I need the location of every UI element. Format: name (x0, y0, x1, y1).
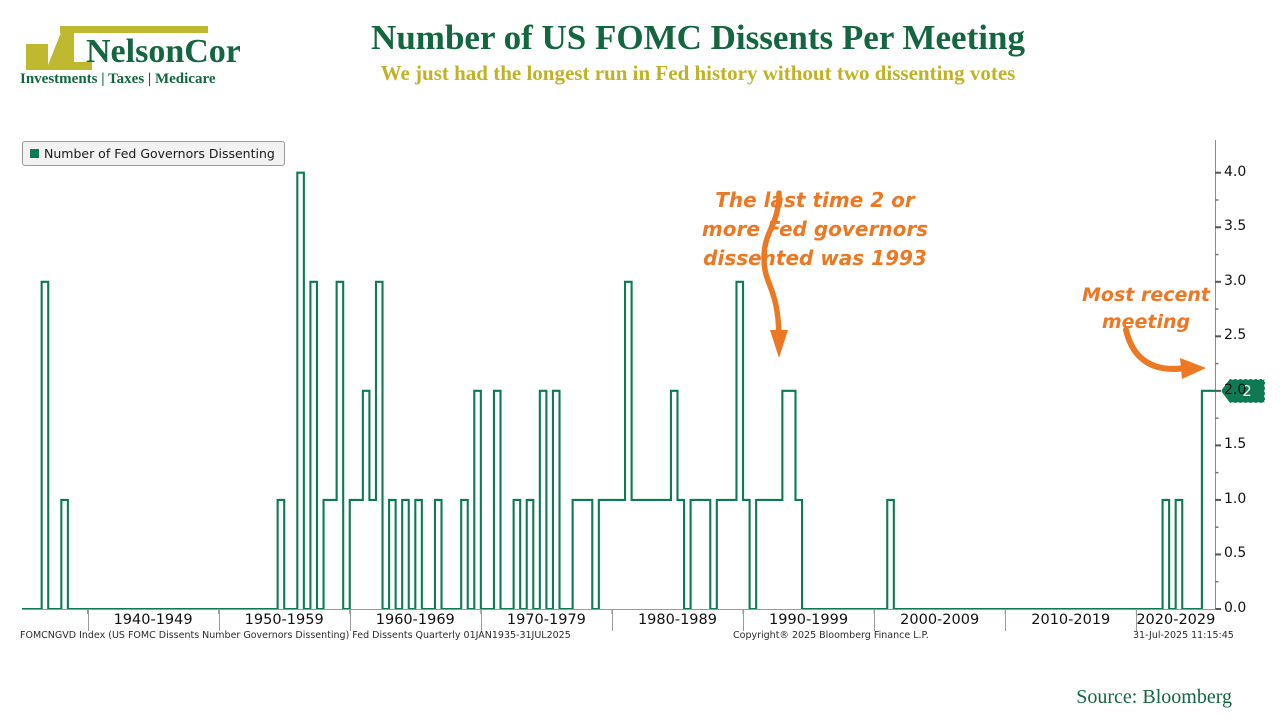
x-axis-tick-label: 1950-1959 (219, 612, 350, 628)
nelsoncorp-logo: NelsonCorp Investments | Taxes | Medicar… (18, 18, 240, 88)
chart-plot-area (0, 118, 1280, 648)
chart-legend[interactable]: Number of Fed Governors Dissenting (22, 141, 285, 166)
x-axis-tick-label: 1960-1969 (350, 612, 481, 628)
source-label: Source: Bloomberg (1076, 686, 1232, 709)
x-axis-tick-label: 2010-2019 (1005, 612, 1136, 628)
annotation-most-recent-meeting: Most recent meeting (1070, 282, 1222, 336)
legend-label: Number of Fed Governors Dissenting (44, 146, 275, 161)
x-axis-tick-label: 1990-1999 (743, 612, 874, 628)
legend-swatch-icon (30, 149, 39, 158)
title-block: Number of US FOMC Dissents Per Meeting W… (258, 16, 1138, 86)
x-axis-rule (22, 609, 1216, 610)
logo-n-mark (26, 30, 92, 70)
annotation-line: dissented was 1993 (700, 244, 930, 273)
page-subtitle: We just had the longest run in Fed histo… (258, 60, 1138, 86)
bloomberg-timestamp-footer: 31-Jul-2025 11:15:45 (1133, 630, 1234, 641)
annotation-line: The last time 2 or (700, 186, 930, 215)
bloomberg-index-footer: FOMCNGVD Index (US FOMC Dissents Number … (20, 630, 571, 641)
logo-tagline-text: Investments | Taxes | Medicare (20, 71, 216, 87)
chart-svg (0, 118, 1280, 648)
x-axis-tick-label: 2000-2009 (874, 612, 1005, 628)
logo-bar (60, 26, 208, 33)
x-axis-tick-label: 1980-1989 (612, 612, 743, 628)
y-axis-tick-label: 3.0 (1224, 273, 1246, 289)
y-axis-tick-label: 1.0 (1224, 491, 1246, 507)
page-title: Number of US FOMC Dissents Per Meeting (258, 16, 1138, 60)
annotation-line: meeting (1070, 309, 1222, 336)
page-header: NelsonCorp Investments | Taxes | Medicar… (0, 0, 1280, 110)
x-axis-tick-label: 2020-2029 (1136, 612, 1208, 628)
y-axis-tick-label: 2.0 (1224, 382, 1246, 398)
dissents-series-line (22, 173, 1215, 609)
y-axis-tick-label: 3.5 (1224, 218, 1246, 234)
y-axis-tick-label: 0.0 (1224, 600, 1246, 616)
y-axis-tick-label: 2.5 (1224, 327, 1246, 343)
bloomberg-copyright-footer: Copyright® 2025 Bloomberg Finance L.P. (733, 630, 929, 641)
x-axis-tick-label: 1940-1949 (88, 612, 219, 628)
annotation-line: Most recent (1070, 282, 1222, 309)
logo-brand-text: NelsonCorp (86, 33, 240, 70)
logo-graphic: NelsonCorp Investments | Taxes | Medicar… (18, 18, 240, 88)
y-axis-tick-label: 1.5 (1224, 436, 1246, 452)
y-axis-tick-label: 4.0 (1224, 164, 1246, 180)
y-axis-tick-label: 0.5 (1224, 545, 1246, 561)
annotation-line: more Fed governors (700, 215, 930, 244)
x-axis-tick-label: 1970-1979 (481, 612, 612, 628)
annotation-last-time-1993: The last time 2 or more Fed governors di… (700, 186, 930, 273)
